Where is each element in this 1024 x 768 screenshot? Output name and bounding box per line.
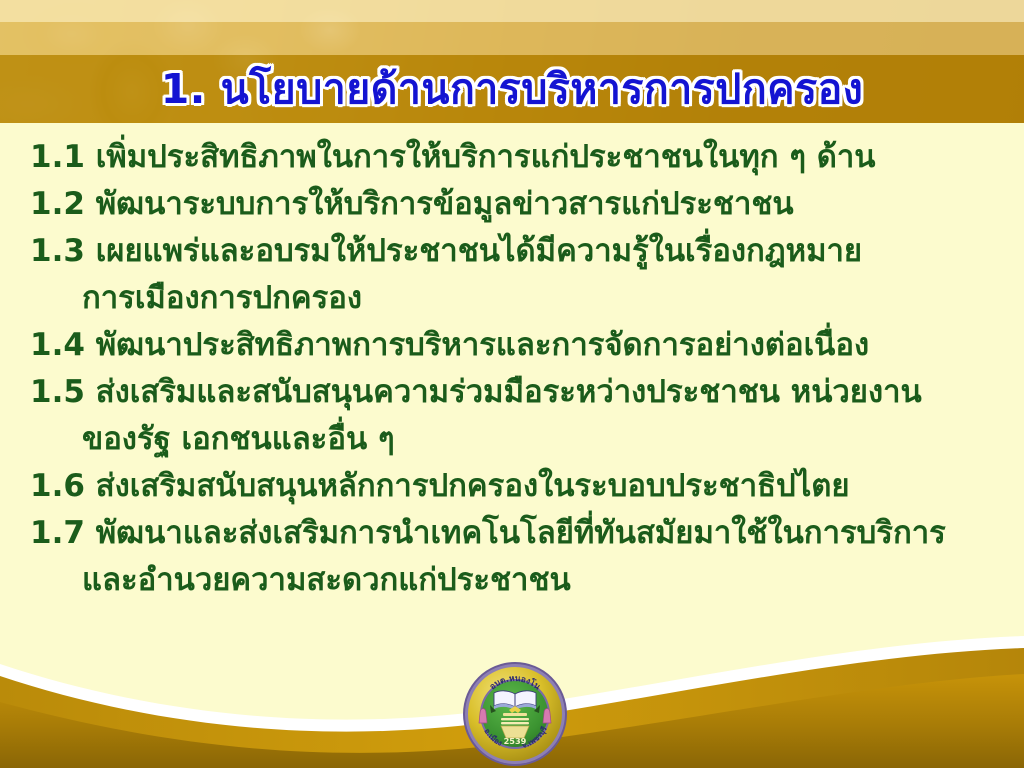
list-item: 1.7 พัฒนาและส่งเสริมการนำเทคโนโลยีที่ทัน… [0,510,1024,557]
bullet-list: 1.1 เพิ่มประสิทธิภาพในการให้บริการแก่ประ… [0,134,1024,654]
subdistrict-seal-icon: อบต.หนองโน อ.เมือง จ.เพชรบุรี [462,661,568,767]
slide-canvas: 1. นโยบายด้านการบริหารการปกครอง 1.1 เพิ่… [0,0,1024,768]
list-item-continuation: การเมืองการปกครอง [0,275,1024,322]
header-baseline [0,123,1024,129]
avatar: อบต.หนองโน อ.เมือง จ.เพชรบุรี [462,661,568,767]
seal-year: 2539 [504,736,527,746]
list-item: 1.3 เผยแพร่และอบรมให้ประชาชนได้มีความรู้… [0,228,1024,275]
list-item: 1.6 ส่งเสริมสนับสนุนหลักการปกครองในระบอบ… [0,463,1024,510]
list-item: 1.1 เพิ่มประสิทธิภาพในการให้บริการแก่ประ… [0,134,1024,181]
header-band-top [0,0,1024,22]
list-item-continuation: ของรัฐ เอกชนและอื่น ๆ [0,416,1024,463]
list-item: 1.4 พัฒนาประสิทธิภาพการบริหารและการจัดกา… [0,322,1024,369]
page-title: 1. นโยบายด้านการบริหารการปกครอง [0,60,1024,118]
slide-header: 1. นโยบายด้านการบริหารการปกครอง [0,0,1024,129]
bell-flower-left-icon [479,709,487,724]
list-item: 1.2 พัฒนาระบบการให้บริการข้อมูลข่าวสารแก… [0,181,1024,228]
list-item-continuation: และอำนวยความสะดวกแก่ประชาชน [0,557,1024,604]
bell-flower-right-icon [543,709,551,724]
header-band-middle [0,22,1024,55]
list-item: 1.5 ส่งเสริมและสนับสนุนความร่วมมือระหว่า… [0,369,1024,416]
